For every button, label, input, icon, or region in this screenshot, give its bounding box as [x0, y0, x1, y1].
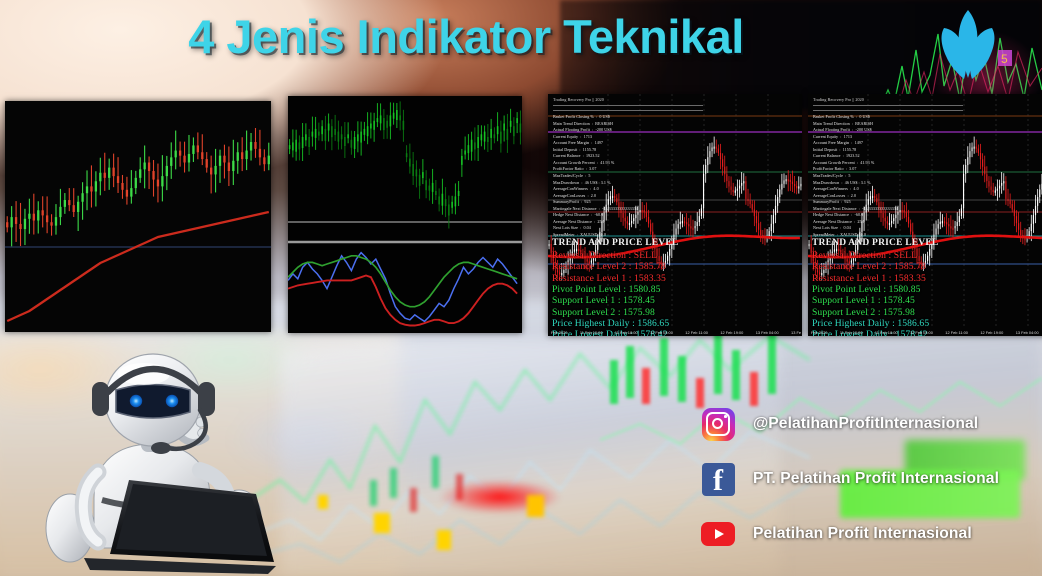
- social-row-facebook[interactable]: f PT. Pelatihan Profit Internasional: [700, 457, 1042, 501]
- background-yellow-marker-1: [374, 513, 390, 533]
- social-links-list: @PelatihanProfitInternasional f PT. Pela…: [700, 402, 1042, 576]
- social-row-youtube[interactable]: Pelatihan Profit Internasional: [700, 512, 1042, 556]
- candlestick-chart-svg: [5, 101, 271, 332]
- background-yellow-marker-4: [318, 495, 328, 509]
- mt4-chart-background: [548, 94, 802, 336]
- lotus-leaf-logo: [922, 6, 1014, 82]
- facebook-icon[interactable]: f: [700, 461, 736, 497]
- background-yellow-marker-2: [437, 530, 451, 550]
- instagram-icon[interactable]: [700, 406, 736, 442]
- trading-recovery-pro-panel-duplicate[interactable]: Trading Recovery Pro || 2020Basket Profi…: [808, 94, 1042, 336]
- chart-panel-candlestick-oscillator[interactable]: [288, 96, 522, 333]
- mt4-chart-background-2: [808, 94, 1042, 336]
- page-title: 4 Jenis Indikator Teknikal: [0, 13, 1042, 62]
- background-yellow-marker-3: [527, 495, 544, 517]
- poster-canvas: 5: [0, 0, 1042, 576]
- robot-mascot: [24, 348, 284, 576]
- oscillator-chart-svg: [288, 96, 522, 333]
- instagram-handle: @PelatihanProfitInternasional: [753, 415, 978, 433]
- lotus-leaf-logo-small: [700, 571, 736, 576]
- social-row-website[interactable]: www.PelatihanProfitInternasional.com: [700, 567, 1042, 576]
- youtube-icon[interactable]: [700, 516, 736, 552]
- chart-panel-candlestick-ma[interactable]: [5, 101, 271, 332]
- trading-recovery-pro-panel[interactable]: Trading Recovery Pro || 2020Basket Profi…: [548, 94, 802, 336]
- social-row-instagram[interactable]: @PelatihanProfitInternasional: [700, 402, 1042, 446]
- facebook-page-name: PT. Pelatihan Profit Internasional: [753, 470, 999, 488]
- youtube-channel-name: Pelatihan Profit Internasional: [753, 525, 972, 543]
